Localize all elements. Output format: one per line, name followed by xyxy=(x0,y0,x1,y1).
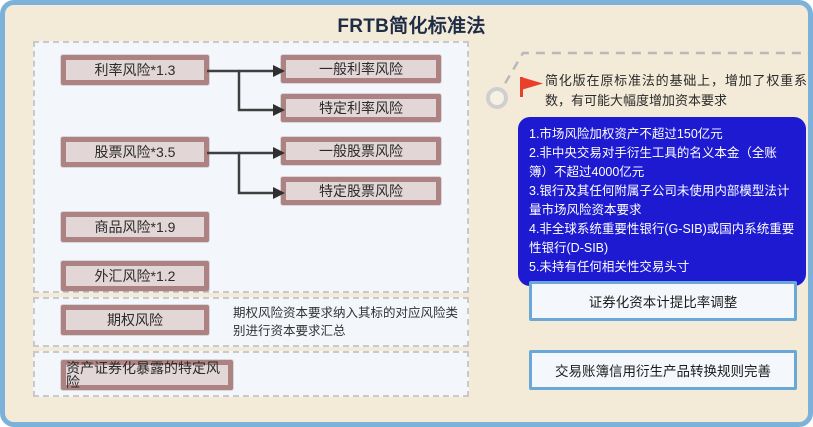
callout-node-circle-icon xyxy=(486,87,508,109)
condition-item: 1.市场风险加权资产不超过150亿元 xyxy=(529,125,795,144)
box-equity-risk[interactable]: 股票风险*3.5 xyxy=(61,137,209,167)
box-trading-book-credit-derivative-conversion[interactable]: 交易账簿信用衍生产品转换规则完善 xyxy=(529,350,797,390)
box-commodity-risk[interactable]: 商品风险*1.9 xyxy=(61,212,209,242)
box-securitization-specific-risk[interactable]: 资产证券化暴露的特定风险 xyxy=(61,360,233,390)
box-fx-risk[interactable]: 外汇风险*1.2 xyxy=(61,261,209,291)
box-specific-equity-risk[interactable]: 特定股票风险 xyxy=(281,177,441,205)
box-securitization-capital-ratio-adjustment[interactable]: 证券化资本计提比率调整 xyxy=(529,281,797,321)
condition-item: 3.银行及其任何附属子公司未使用内部模型法计量市场风险资本要求 xyxy=(529,182,795,220)
condition-item: 4.非全球系统重要性银行(G-SIB)或国内系统重要性银行(D-SIB) xyxy=(529,220,795,258)
frtb-simplified-standard-approach-diagram: FRTB简化标准法 利率风险*1.3 股票风险*3.5 商品风险*1.9 外汇风… xyxy=(0,0,813,427)
eligibility-conditions-box: 1.市场风险加权资产不超过150亿元 2.非中央交易对手衍生工具的名义本金（全账… xyxy=(518,117,806,286)
option-risk-note: 期权风险资本要求纳入其标的对应风险类别进行资本要求汇总 xyxy=(233,304,469,340)
box-specific-interest-rate-risk[interactable]: 特定利率风险 xyxy=(281,94,441,122)
red-flag-icon xyxy=(519,75,545,99)
condition-item: 2.非中央交易对手衍生工具的名义本金（全账簿）不超过4000亿元 xyxy=(529,144,795,182)
box-general-equity-risk[interactable]: 一般股票风险 xyxy=(281,137,441,165)
box-interest-rate-risk[interactable]: 利率风险*1.3 xyxy=(61,55,209,85)
callout-description: 简化版在原标准法的基础上，增加了权重系数，有可能大幅度增加资本要求 xyxy=(545,71,807,111)
page-title: FRTB简化标准法 xyxy=(5,11,813,38)
box-general-interest-rate-risk[interactable]: 一般利率风险 xyxy=(281,55,441,83)
box-option-risk[interactable]: 期权风险 xyxy=(61,305,209,335)
condition-item: 5.未持有任何相关性交易头寸 xyxy=(529,258,795,277)
